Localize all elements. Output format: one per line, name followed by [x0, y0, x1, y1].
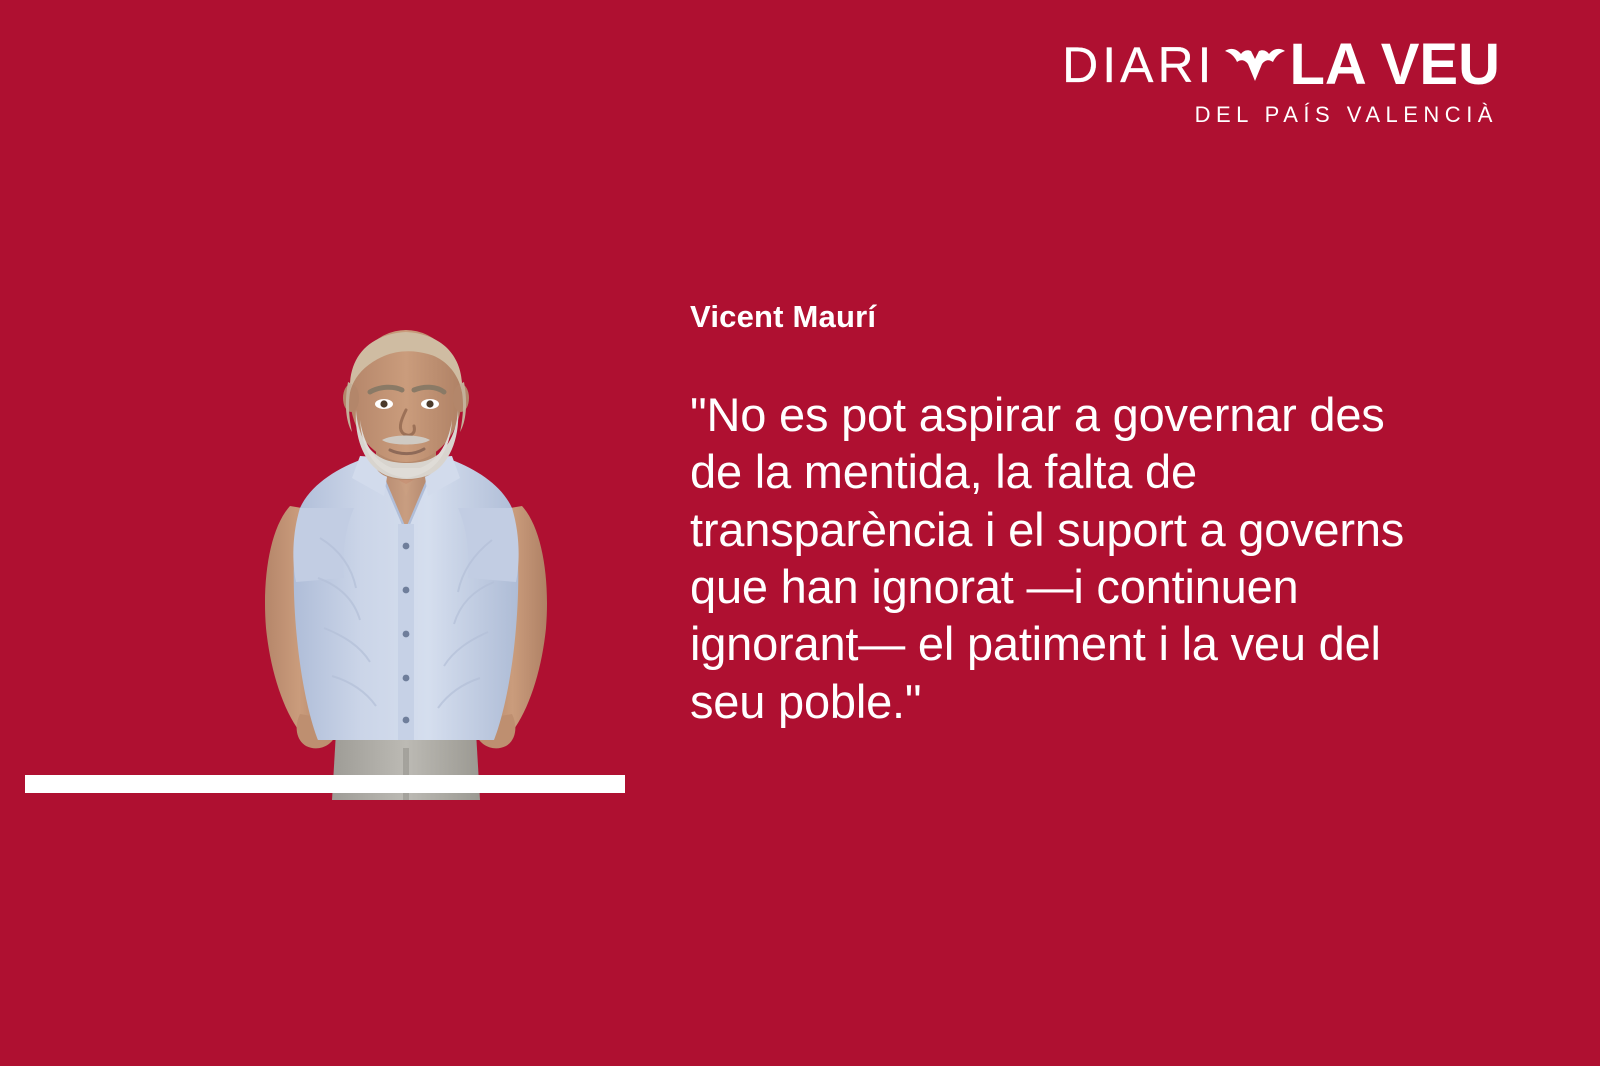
white-rule	[25, 775, 625, 793]
bat-icon	[1223, 37, 1287, 93]
logo-subtitle: DEL PAÍS VALENCIÀ	[1000, 102, 1500, 128]
site-logo[interactable]: DIARI LA VEU DEL PAÍS VALENCIÀ	[1000, 34, 1500, 134]
logo-wordmark-row: DIARI LA VEU	[1000, 34, 1500, 96]
portrait-photo	[248, 328, 564, 800]
portrait-illustration	[248, 328, 564, 800]
logo-word-laveu: LA VEU	[1289, 36, 1500, 94]
logo-word-diari: DIARI	[1062, 40, 1215, 90]
quote-block: Vicent Maurí "No es pot aspirar a govern…	[690, 300, 1480, 730]
quote-text: "No es pot aspirar a governar des de la …	[690, 386, 1480, 730]
speaker-name: Vicent Maurí	[690, 300, 1480, 334]
